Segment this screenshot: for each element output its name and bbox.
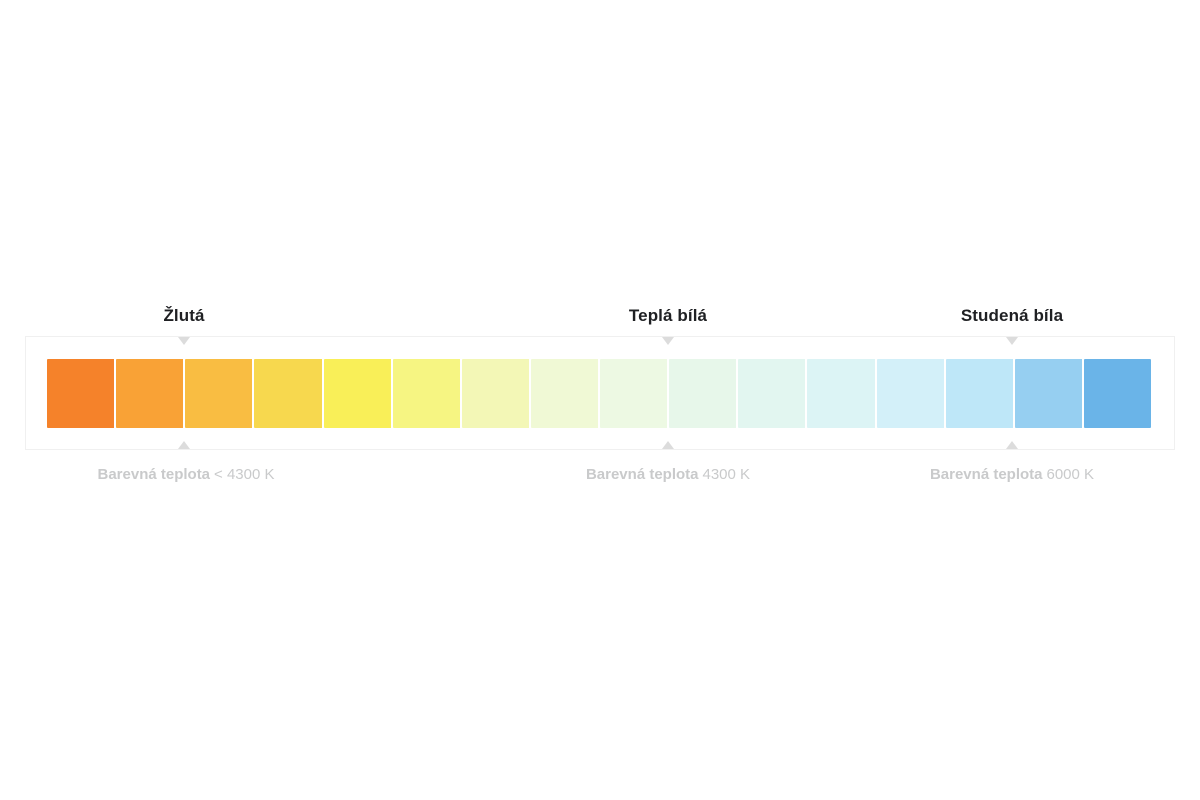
color-swatch <box>807 359 876 428</box>
color-swatch <box>393 359 462 428</box>
heading-yellow: Žlutá <box>163 306 204 326</box>
color-swatch <box>946 359 1015 428</box>
color-swatch <box>1015 359 1084 428</box>
color-swatch <box>185 359 254 428</box>
color-swatch <box>462 359 531 428</box>
color-swatch <box>47 359 116 428</box>
color-swatch <box>324 359 393 428</box>
heading-cool-white: Studená bíla <box>961 306 1063 326</box>
caption-value: < 4300 K <box>214 466 274 483</box>
color-swatch <box>1084 359 1151 428</box>
marker-bottom-cool-white <box>1006 441 1018 449</box>
caption-label: Barevná teplota <box>586 466 699 483</box>
caption-value: 6000 K <box>1047 466 1095 483</box>
caption-value: 4300 K <box>703 466 751 483</box>
heading-warm-white: Teplá bílá <box>629 306 707 326</box>
color-swatch <box>116 359 185 428</box>
color-swatch <box>877 359 946 428</box>
marker-top-cool-white <box>1006 337 1018 345</box>
caption-label: Barevná teplota <box>930 466 1043 483</box>
marker-bottom-warm-white <box>662 441 674 449</box>
color-swatch <box>600 359 669 428</box>
marker-top-warm-white <box>662 337 674 345</box>
caption-yellow: Barevná teplota< 4300 K <box>97 466 274 483</box>
caption-cool-white: Barevná teplota6000 K <box>930 466 1094 483</box>
caption-label: Barevná teplota <box>97 466 210 483</box>
color-swatch <box>738 359 807 428</box>
color-swatch <box>254 359 323 428</box>
marker-bottom-yellow <box>178 441 190 449</box>
color-temperature-scale: Žlutá Teplá bílá Studená bíla Barevná te… <box>0 0 1200 800</box>
swatch-strip <box>47 359 1151 428</box>
marker-top-yellow <box>178 337 190 345</box>
caption-warm-white: Barevná teplota4300 K <box>586 466 750 483</box>
color-swatch <box>669 359 738 428</box>
color-swatch <box>531 359 600 428</box>
